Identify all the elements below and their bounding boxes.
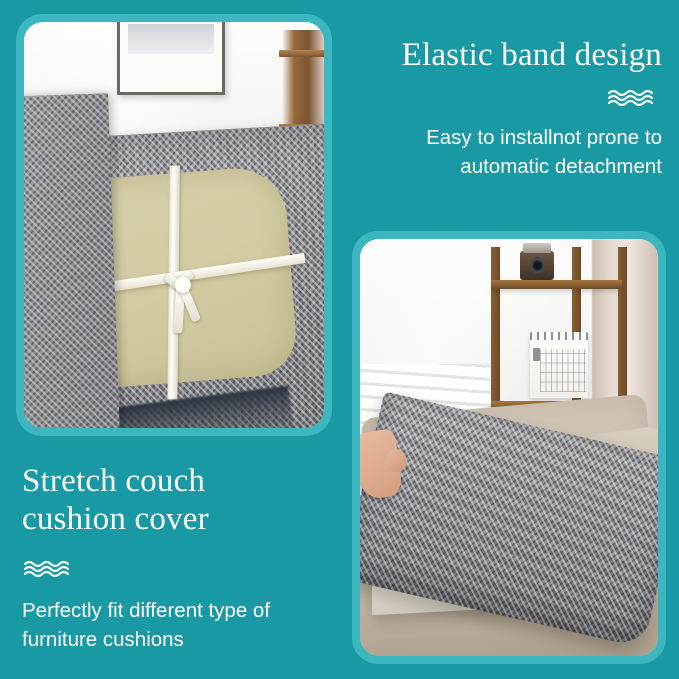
- shadow-gap: [102, 385, 294, 428]
- bottom-left-text-block: Stretch couch cushion cover Perfectly fi…: [22, 462, 334, 654]
- framed-wall-art: [117, 22, 225, 95]
- flipped-cushion-cover-photo: [16, 14, 332, 436]
- photo-inner-bottomright: [360, 239, 658, 656]
- calendar-spiral-binding: [530, 332, 588, 341]
- desk-calendar: [530, 332, 588, 398]
- hand-stretching-cover-photo: [352, 231, 666, 664]
- bottom-left-subtext: Perfectly fit different type of furnitur…: [22, 596, 334, 654]
- strap-bow-knot: [160, 265, 213, 339]
- product-infographic-canvas: Elastic band design Easy to installnot p…: [0, 0, 679, 679]
- top-right-subtext: Easy to installnot prone to automatic de…: [352, 123, 662, 181]
- calendar-month-label: [533, 348, 540, 361]
- cover-side-fold: [24, 93, 120, 428]
- wave-divider-icon: [608, 88, 660, 107]
- wave-divider-icon: [24, 559, 76, 578]
- top-right-text-block: Elastic band design Easy to installnot p…: [352, 36, 662, 181]
- vintage-camera: [520, 251, 554, 280]
- photo-inner-topleft: [24, 22, 324, 428]
- shelf-board: [491, 280, 622, 289]
- page-title-stretch-couch-cushion-cover: Stretch couch cushion cover: [22, 462, 334, 539]
- shelf-plank: [279, 50, 324, 57]
- page-title-elastic-band: Elastic band design: [352, 36, 662, 74]
- calendar-date-grid: [540, 349, 586, 393]
